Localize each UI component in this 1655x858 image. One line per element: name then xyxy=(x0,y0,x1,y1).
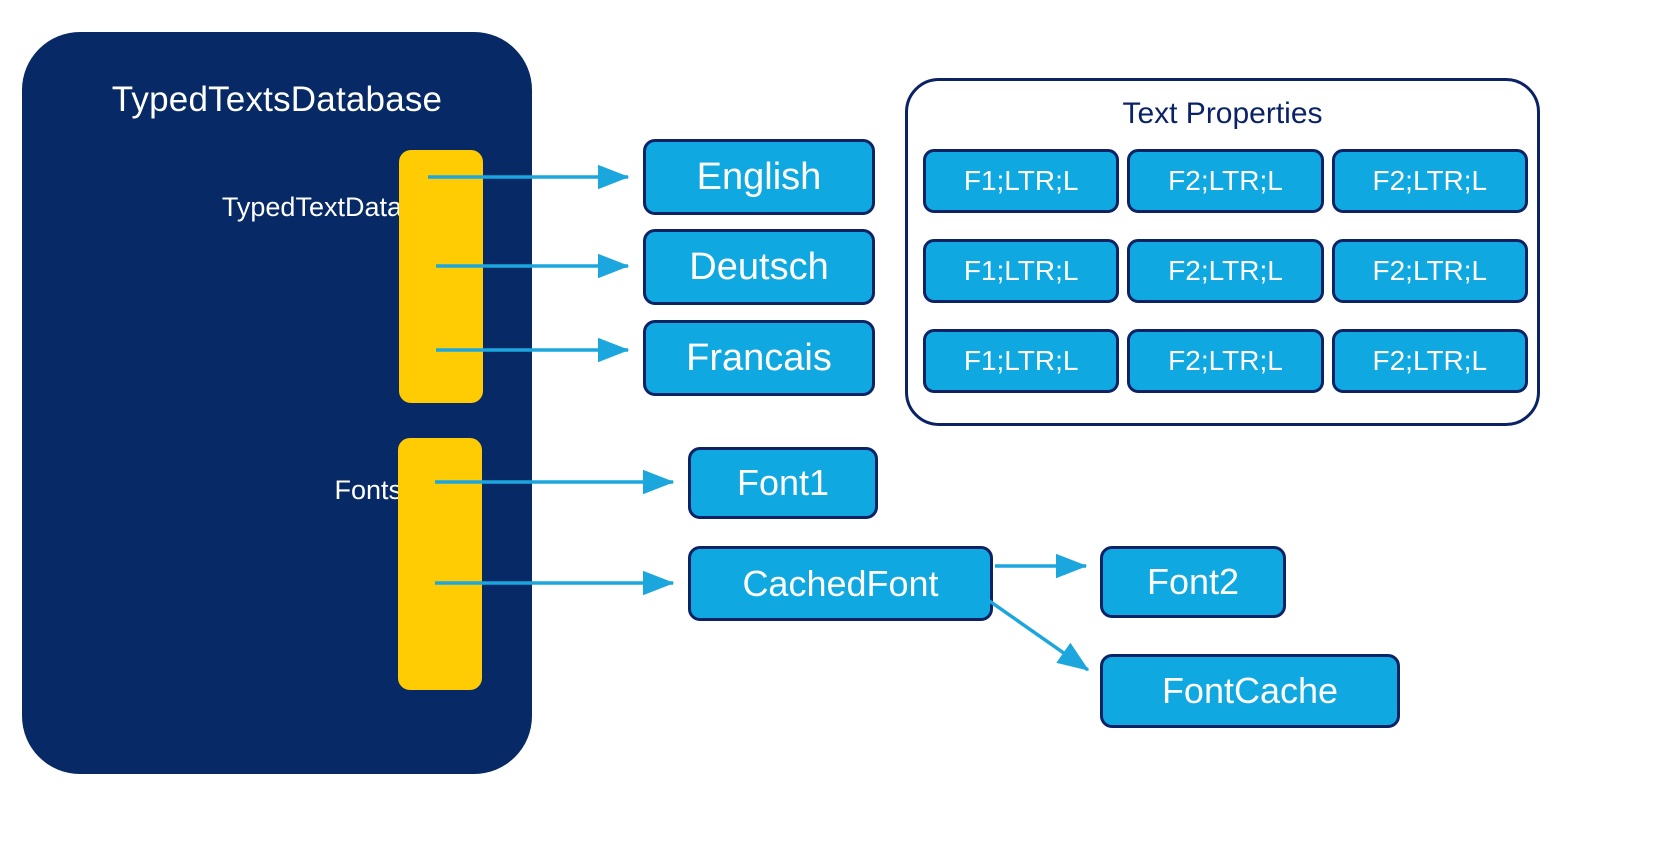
collection-bar-typed-text-data xyxy=(399,150,483,403)
text-property-cell[interactable]: F1;LTR;L xyxy=(923,149,1119,213)
database-title: TypedTextsDatabase xyxy=(22,80,532,120)
collection-bar-fonts xyxy=(398,438,482,690)
node-font1[interactable]: Font1 xyxy=(688,447,878,519)
text-property-cell[interactable]: F2;LTR;L xyxy=(1127,149,1323,213)
node-deutsch[interactable]: Deutsch xyxy=(643,229,875,305)
text-properties-panel: Text Properties F1;LTR;L F2;LTR;L F2;LTR… xyxy=(905,78,1540,426)
node-font-cache[interactable]: FontCache xyxy=(1100,654,1400,728)
connector-cachedfont-to-fontcache xyxy=(988,600,1088,670)
text-property-cell[interactable]: F2;LTR;L xyxy=(1127,329,1323,393)
text-property-cell[interactable]: F1;LTR;L xyxy=(923,329,1119,393)
text-properties-title: Text Properties xyxy=(908,97,1537,131)
node-english[interactable]: English xyxy=(643,139,875,215)
field-label-fonts: Fonts xyxy=(152,475,402,506)
text-property-cell[interactable]: F1;LTR;L xyxy=(923,239,1119,303)
text-property-cell[interactable]: F2;LTR;L xyxy=(1332,149,1528,213)
node-font2[interactable]: Font2 xyxy=(1100,546,1286,618)
node-francais[interactable]: Francais xyxy=(643,320,875,396)
text-properties-grid: F1;LTR;L F2;LTR;L F2;LTR;L F1;LTR;L F2;L… xyxy=(923,149,1528,393)
text-property-cell[interactable]: F2;LTR;L xyxy=(1332,239,1528,303)
diagram-canvas: TypedTextsDatabase TypedTextData Fonts E… xyxy=(0,0,1655,858)
text-property-cell[interactable]: F2;LTR;L xyxy=(1332,329,1528,393)
field-label-typed-text-data: TypedTextData xyxy=(152,192,402,223)
node-cached-font[interactable]: CachedFont xyxy=(688,546,993,621)
text-property-cell[interactable]: F2;LTR;L xyxy=(1127,239,1323,303)
